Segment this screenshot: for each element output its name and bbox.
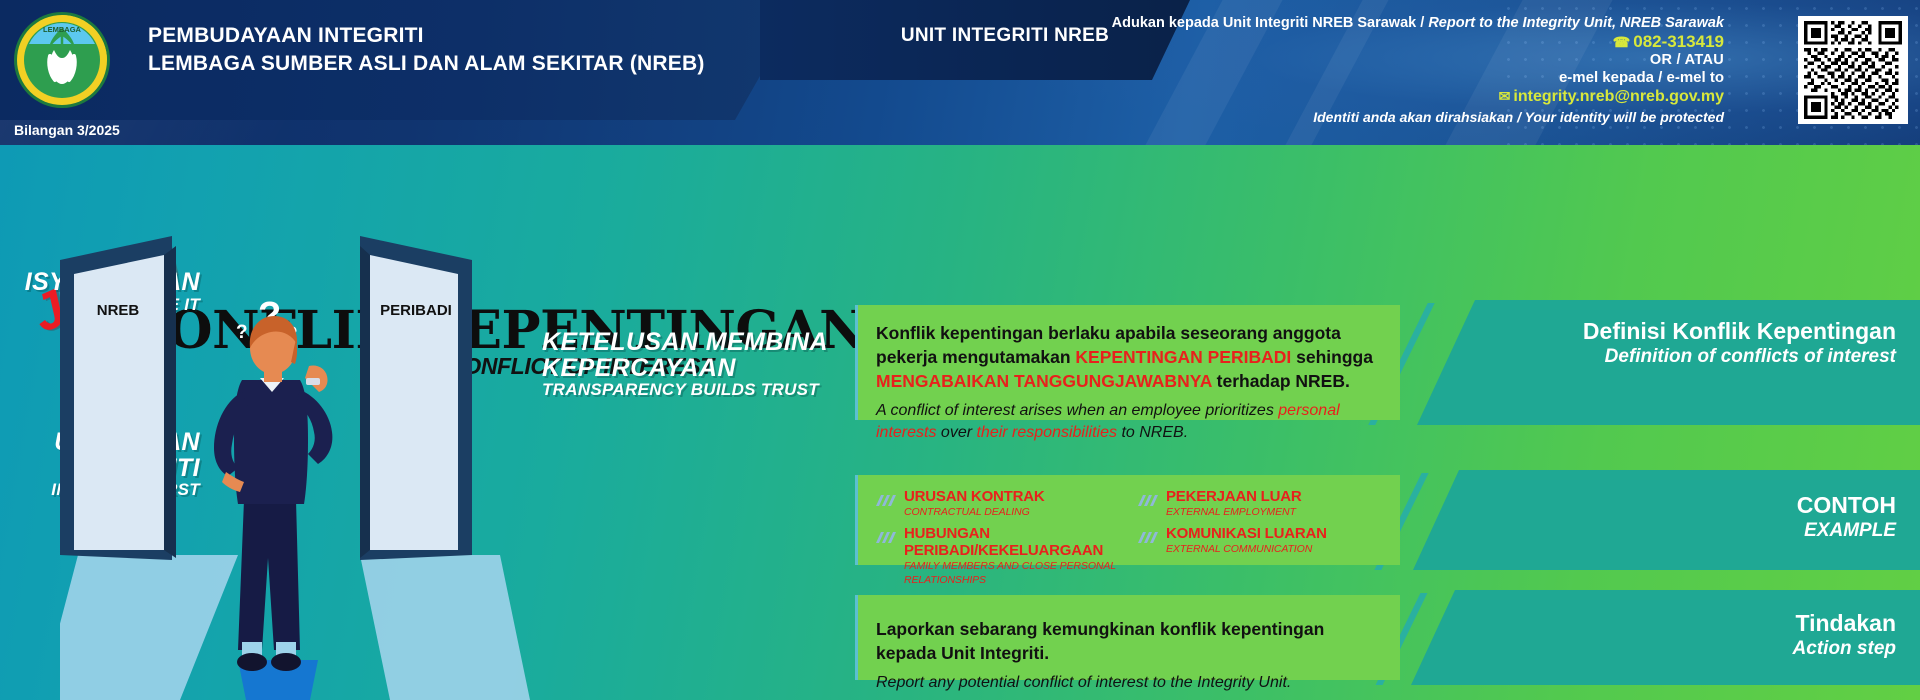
page-header: LEMBAGA PEMBUDAYAAN INTEGRITI LEMBAGA SU… xyxy=(0,0,1920,145)
example-item: PEKERJAAN LUAREXTERNAL EMPLOYMENT xyxy=(1138,488,1388,519)
example-item-en: FAMILY MEMBERS AND CLOSE PERSONAL RELATI… xyxy=(904,559,1126,587)
panel-action: Laporkan sebarang kemungkinan konflik ke… xyxy=(855,595,1400,680)
tab-definition: Definisi Konflik Kepentingan Definition … xyxy=(1395,300,1920,425)
tab-action-ms: Tindakan xyxy=(1566,610,1896,637)
email-line[interactable]: ✉integrity.nreb@nreb.gov.my xyxy=(1024,87,1724,106)
header-title: PEMBUDAYAAN INTEGRITI LEMBAGA SUMBER ASL… xyxy=(148,22,705,78)
or-text: OR / ATAU xyxy=(1024,51,1724,69)
example-item-text: PEKERJAAN LUAREXTERNAL EMPLOYMENT xyxy=(1166,488,1302,519)
definition-en: A conflict of interest arises when an em… xyxy=(876,400,1384,444)
email-label: e-mel kepada / e-mel to xyxy=(1024,69,1724,87)
body-text-run: terhadap NREB. xyxy=(1212,371,1350,391)
example-item-ms: KOMUNIKASI LUARAN xyxy=(1166,525,1327,542)
tab-example-ms: CONTOH xyxy=(1566,492,1896,519)
tab-example: CONTOH EXAMPLE xyxy=(1395,470,1920,570)
example-item-ms: URUSAN KONTRAK xyxy=(904,488,1045,505)
slash-marks-icon xyxy=(876,493,898,511)
qr-code[interactable] xyxy=(1798,16,1908,124)
doors-illustration: NREB PERIBADI ? ? ? xyxy=(60,200,680,700)
svg-text:LEMBAGA: LEMBAGA xyxy=(43,25,81,34)
highlight-text: MENGABAIKAN TANGGUNGJAWABNYA xyxy=(876,371,1212,391)
envelope-icon: ✉ xyxy=(1499,88,1511,104)
privacy-note: Identiti anda akan dirahsiakan / Your id… xyxy=(1024,108,1724,126)
example-item-text: KOMUNIKASI LUARANEXTERNAL COMMUNICATION xyxy=(1166,525,1327,556)
action-en: Report any potential conflict of interes… xyxy=(876,672,1384,694)
example-item: KOMUNIKASI LUARANEXTERNAL COMMUNICATION xyxy=(1138,525,1388,587)
panel-definition: Konflik kepentingan berlaku apabila sese… xyxy=(855,305,1400,420)
phone-line[interactable]: ☎082-313419 xyxy=(1024,33,1724,51)
report-line: Adukan kepada Unit Integriti NREB Sarawa… xyxy=(1024,14,1724,32)
report-en: Report to the Integrity Unit, NREB Saraw… xyxy=(1428,15,1724,31)
door-left-label: NREB xyxy=(97,302,140,319)
tab-definition-ms: Definisi Konflik Kepentingan xyxy=(1566,318,1896,345)
phone-icon: ☎ xyxy=(1613,34,1630,50)
example-item-en: EXTERNAL COMMUNICATION xyxy=(1166,542,1327,556)
tab-example-en: EXAMPLE xyxy=(1566,519,1896,542)
example-item-en: EXTERNAL EMPLOYMENT xyxy=(1166,505,1302,519)
phone-number: 082-313419 xyxy=(1633,32,1724,51)
svg-text:?: ? xyxy=(236,322,248,343)
report-separator: / xyxy=(1416,15,1428,31)
panel-action-text: Laporkan sebarang kemungkinan konflik ke… xyxy=(876,617,1384,694)
example-item-ms: HUBUNGAN PERIBADI/KEKELUARGAAN xyxy=(904,525,1126,559)
example-item: URUSAN KONTRAKCONTRACTUAL DEALING xyxy=(876,488,1126,519)
tab-definition-en: Definition of conflicts of interest xyxy=(1566,345,1896,368)
body-text-run: to NREB. xyxy=(1117,424,1188,441)
example-item: HUBUNGAN PERIBADI/KEKELUARGAANFAMILY MEM… xyxy=(876,525,1126,587)
header-title-line2: LEMBAGA SUMBER ASLI DAN ALAM SEKITAR (NR… xyxy=(148,50,705,78)
door-right-label: PERIBADI xyxy=(380,302,452,319)
example-item-ms: PEKERJAAN LUAR xyxy=(1166,488,1302,505)
slash-marks-icon xyxy=(1138,493,1160,511)
header-title-line1: PEMBUDAYAAN INTEGRITI xyxy=(148,22,705,50)
example-item-en: CONTRACTUAL DEALING xyxy=(904,505,1045,519)
example-item-text: HUBUNGAN PERIBADI/KEKELUARGAANFAMILY MEM… xyxy=(904,525,1126,587)
definition-ms: Konflik kepentingan berlaku apabila sese… xyxy=(876,321,1384,393)
highlight-text: their responsibilities xyxy=(976,424,1117,441)
slash-marks-icon xyxy=(1138,530,1160,548)
body-text-run: A conflict of interest arises when an em… xyxy=(876,402,1278,419)
nreb-logo-icon: LEMBAGA xyxy=(12,10,112,110)
body-text-run: sehingga xyxy=(1291,347,1373,367)
contact-block: Adukan kepada Unit Integriti NREB Sarawa… xyxy=(1024,14,1724,126)
tab-action-en: Action step xyxy=(1566,637,1896,660)
email-address: integrity.nreb@nreb.gov.my xyxy=(1513,88,1724,105)
example-list: URUSAN KONTRAKCONTRACTUAL DEALINGPEKERJA… xyxy=(876,488,1388,587)
tab-action: Tindakan Action step xyxy=(1395,590,1920,685)
panel-definition-text: Konflik kepentingan berlaku apabila sese… xyxy=(876,321,1384,444)
slash-marks-icon xyxy=(876,530,898,548)
action-ms: Laporkan sebarang kemungkinan konflik ke… xyxy=(876,617,1384,665)
report-ms: Adukan kepada Unit Integriti NREB Sarawa… xyxy=(1112,15,1417,31)
main-stage: JAUHI KONFLIK KEPENTINGAN AVOID CONFLICT… xyxy=(0,145,1920,700)
highlight-text: KEPENTINGAN PERIBADI xyxy=(1075,347,1291,367)
issue-number: Bilangan 3/2025 xyxy=(14,122,120,138)
panel-example: URUSAN KONTRAKCONTRACTUAL DEALINGPEKERJA… xyxy=(855,475,1400,565)
body-text-run: over xyxy=(936,424,976,441)
example-item-text: URUSAN KONTRAKCONTRACTUAL DEALING xyxy=(904,488,1045,519)
